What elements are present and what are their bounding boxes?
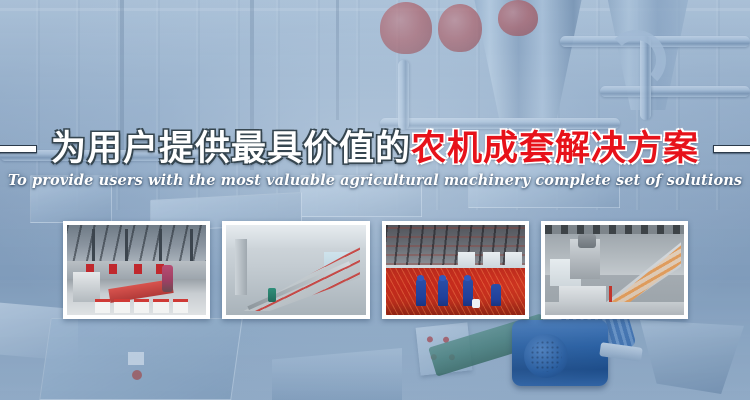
- background-factory-photo: [0, 0, 750, 400]
- thumbnail-strip: [63, 221, 688, 319]
- thumbnail-1-image: [67, 225, 206, 315]
- promotional-banner: 为用户提供最具价值的农机成套解决方案 To provide users with…: [0, 0, 750, 400]
- subtitle: To provide users with the most valuable …: [0, 172, 750, 189]
- headline-red-text: 农机成套解决方案: [411, 129, 699, 169]
- headline-white-text: 为用户提供最具价值的: [51, 129, 411, 169]
- center-haze-overlay: [0, 0, 750, 400]
- thumbnail-1[interactable]: [63, 221, 210, 319]
- thumbnail-2[interactable]: [222, 221, 369, 319]
- thumbnail-3-image: [386, 225, 525, 315]
- thumbnail-4[interactable]: [541, 221, 688, 319]
- thumbnail-2-image: [226, 225, 365, 315]
- thumbnail-3[interactable]: [382, 221, 529, 319]
- headline-row: 为用户提供最具价值的农机成套解决方案: [0, 126, 750, 172]
- thumbnail-4-image: [545, 225, 684, 315]
- right-dash-ornament: [713, 145, 750, 153]
- left-dash-ornament: [0, 145, 37, 153]
- page-title: 为用户提供最具价值的农机成套解决方案: [51, 129, 699, 169]
